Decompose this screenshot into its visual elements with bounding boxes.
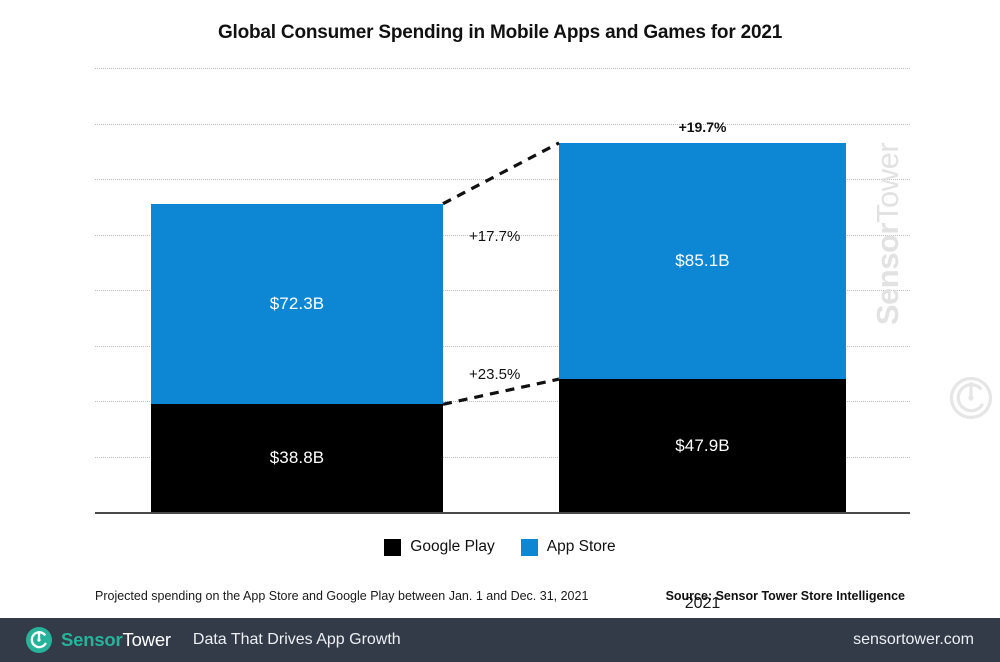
legend-swatch-google-play: [384, 539, 401, 556]
chart-page: Global Consumer Spending in Mobile Apps …: [0, 0, 1000, 662]
footer-brand-tower: Tower: [123, 629, 171, 650]
sensor-tower-logo-icon: [949, 376, 993, 420]
legend-label-app-store: App Store: [547, 538, 616, 556]
footer-bar: SensorTower Data That Drives App Growth …: [0, 618, 1000, 662]
legend-label-google-play: Google Play: [410, 538, 494, 556]
legend-item-google-play[interactable]: Google Play: [384, 538, 494, 556]
legend: Google Play App Store: [0, 538, 1000, 556]
footer-tagline: Data That Drives App Growth: [193, 631, 401, 649]
page-title: Global Consumer Spending in Mobile Apps …: [0, 22, 1000, 44]
footer-brand-sensor: Sensor: [61, 629, 123, 650]
footnote-source: Source: Sensor Tower Store Intelligence: [666, 589, 905, 603]
footnote-row: Projected spending on the App Store and …: [95, 589, 905, 603]
footer-wordmark: SensorTower: [61, 629, 171, 651]
plot-area: $160B $140B $120B $100B $80B $60B $40B $…: [95, 68, 910, 512]
footer-url[interactable]: sensortower.com: [853, 631, 974, 649]
connector-google-play-growth: [95, 68, 910, 512]
sensor-tower-logo-icon: [26, 627, 52, 653]
x-axis-line: [95, 512, 910, 514]
legend-swatch-app-store: [521, 539, 538, 556]
footnote-text: Projected spending on the App Store and …: [95, 589, 588, 603]
watermark: SensorTower: [948, 112, 994, 412]
growth-label-google-play: +23.5%: [469, 366, 520, 383]
legend-item-app-store[interactable]: App Store: [521, 538, 616, 556]
